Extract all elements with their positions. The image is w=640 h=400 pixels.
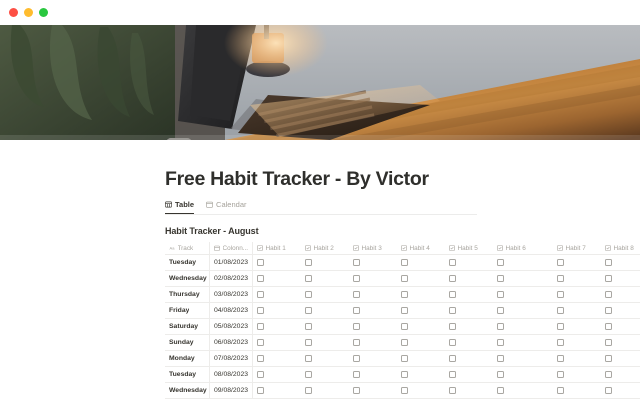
cell-habit-7-checkbox[interactable] [553,287,601,302]
cell-habit-2-checkbox[interactable] [301,383,349,398]
cell-day[interactable]: Friday [165,303,210,318]
cell-habit-5-checkbox[interactable] [445,271,493,286]
checkbox-unchecked-icon[interactable] [305,371,312,378]
checkbox-unchecked-icon[interactable] [401,291,408,298]
day-label: Tuesday [169,371,196,378]
column-header-habit-7[interactable]: Habit 7 [553,242,601,254]
cell-date[interactable]: 09/08/2023 [210,383,253,398]
checkbox-unchecked-icon[interactable] [605,371,612,378]
checkbox-unchecked-icon[interactable] [257,291,264,298]
checkbox-unchecked-icon[interactable] [401,355,408,362]
cell-habit-5-checkbox[interactable] [445,383,493,398]
table-row[interactable]: Tuesday01/08/2023 [165,255,640,271]
checkbox-unchecked-icon[interactable] [257,323,264,330]
database-title: Habit Tracker - August [165,226,640,236]
day-label: Friday [169,307,189,314]
cell-date[interactable]: 03/08/2023 [210,287,253,302]
cell-day[interactable]: Wednesday [165,383,210,398]
cell-day[interactable]: Thursday [165,287,210,302]
column-header-label: Track [178,245,194,252]
checkbox-unchecked-icon[interactable] [497,323,504,330]
checkbox-unchecked-icon[interactable] [401,323,408,330]
checkbox-unchecked-icon[interactable] [605,355,612,362]
column-header-label: Habit 5 [458,245,478,252]
checkbox-unchecked-icon[interactable] [305,355,312,362]
checkbox-unchecked-icon[interactable] [401,339,408,346]
checkbox-icon [305,245,311,251]
date-label: 09/08/2023 [214,387,248,394]
column-header-label: Habit 8 [614,245,634,252]
cell-date[interactable]: 01/08/2023 [210,255,253,270]
checkbox-icon [353,245,359,251]
cell-day[interactable]: Monday [165,351,210,366]
checkbox-unchecked-icon[interactable] [449,291,456,298]
cell-habit-5-checkbox[interactable] [445,351,493,366]
checkbox-unchecked-icon[interactable] [305,291,312,298]
checkbox-unchecked-icon[interactable] [305,275,312,282]
cell-habit-4-checkbox[interactable] [397,351,445,366]
checkbox-unchecked-icon[interactable] [557,275,564,282]
title-aa-icon: Aa [169,245,175,251]
checkbox-icon [257,245,263,251]
cell-habit-3-checkbox[interactable] [349,255,397,270]
table-row[interactable]: Wednesday09/08/2023 [165,383,640,399]
checkbox-unchecked-icon[interactable] [449,355,456,362]
cell-habit-2-checkbox[interactable] [301,255,349,270]
checkbox-unchecked-icon[interactable] [305,307,312,314]
checkbox-unchecked-icon[interactable] [557,387,564,394]
cell-habit-2-checkbox[interactable] [301,319,349,334]
checkbox-unchecked-icon[interactable] [305,323,312,330]
cell-habit-7-checkbox[interactable] [553,367,601,382]
cell-habit-5-checkbox[interactable] [445,287,493,302]
cell-habit-1-checkbox[interactable] [253,255,301,270]
checkbox-unchecked-icon[interactable] [497,355,504,362]
checkbox-unchecked-icon[interactable] [605,323,612,330]
day-label: Monday [169,355,195,362]
cell-habit-3-checkbox[interactable] [349,367,397,382]
cell-habit-1-checkbox[interactable] [253,335,301,350]
cell-habit-1-checkbox[interactable] [253,303,301,318]
cell-habit-3-checkbox[interactable] [349,351,397,366]
column-header-label: Habit 6 [506,245,526,252]
checkbox-unchecked-icon[interactable] [449,371,456,378]
cell-habit-2-checkbox[interactable] [301,271,349,286]
close-button[interactable] [9,8,18,17]
cell-habit-6-checkbox[interactable] [493,367,553,382]
column-header-track[interactable]: AaTrack [165,242,210,254]
checkbox-icon [605,245,611,251]
date-label: 06/08/2023 [214,339,248,346]
checkbox-unchecked-icon[interactable] [353,259,360,266]
zoom-button[interactable] [39,8,48,17]
table-row[interactable]: Saturday05/08/2023 [165,319,640,335]
cell-habit-6-checkbox[interactable] [493,255,553,270]
checkbox-unchecked-icon[interactable] [449,323,456,330]
table-row[interactable]: Thursday03/08/2023 [165,287,640,303]
cell-habit-6-checkbox[interactable] [493,383,553,398]
checkbox-unchecked-icon[interactable] [449,259,456,266]
cell-habit-7-checkbox[interactable] [553,319,601,334]
column-header-habit-6[interactable]: Habit 6 [493,242,553,254]
checkbox-unchecked-icon[interactable] [605,291,612,298]
cell-habit-8-checkbox[interactable] [601,383,640,398]
table-row[interactable]: Sunday06/08/2023 [165,335,640,351]
column-header-habit-3[interactable]: Habit 3 [349,242,397,254]
checkbox-unchecked-icon[interactable] [557,371,564,378]
cell-habit-8-checkbox[interactable] [601,255,640,270]
checkbox-unchecked-icon[interactable] [257,355,264,362]
checkbox-unchecked-icon[interactable] [401,307,408,314]
checkbox-unchecked-icon[interactable] [557,323,564,330]
checkbox-unchecked-icon[interactable] [497,259,504,266]
cell-habit-5-checkbox[interactable] [445,255,493,270]
cell-habit-8-checkbox[interactable] [601,335,640,350]
checkbox-unchecked-icon[interactable] [353,307,360,314]
cell-habit-3-checkbox[interactable] [349,271,397,286]
tab-table[interactable]: Table [165,200,194,214]
checkbox-unchecked-icon[interactable] [353,291,360,298]
checkbox-unchecked-icon[interactable] [497,339,504,346]
checkbox-icon [449,245,455,251]
cell-habit-2-checkbox[interactable] [301,351,349,366]
checkbox-unchecked-icon[interactable] [449,387,456,394]
cell-habit-8-checkbox[interactable] [601,319,640,334]
svg-text:Aa: Aa [170,246,175,251]
column-header-label: Habit 1 [266,245,286,252]
checkbox-unchecked-icon[interactable] [497,307,504,314]
cell-date[interactable]: 06/08/2023 [210,335,253,350]
cell-day[interactable]: Tuesday [165,367,210,382]
page-cover-image[interactable] [0,25,640,140]
table-icon [165,201,172,208]
cell-habit-6-checkbox[interactable] [493,351,553,366]
cell-date[interactable]: 05/08/2023 [210,319,253,334]
cell-habit-5-checkbox[interactable] [445,303,493,318]
cell-habit-7-checkbox[interactable] [553,351,601,366]
cell-habit-6-checkbox[interactable] [493,319,553,334]
cell-habit-5-checkbox[interactable] [445,335,493,350]
cell-habit-6-checkbox[interactable] [493,335,553,350]
cell-habit-1-checkbox[interactable] [253,367,301,382]
cell-habit-4-checkbox[interactable] [397,271,445,286]
cell-habit-8-checkbox[interactable] [601,287,640,302]
table-row[interactable]: Monday07/08/2023 [165,351,640,367]
cell-habit-2-checkbox[interactable] [301,303,349,318]
checkbox-unchecked-icon[interactable] [449,307,456,314]
app-window: Free Habit Tracker - By Victor Table [0,0,640,400]
date-label: 02/08/2023 [214,275,248,282]
checkbox-unchecked-icon[interactable] [305,339,312,346]
cell-day[interactable]: Saturday [165,319,210,334]
date-label: 01/08/2023 [214,259,248,266]
checkbox-unchecked-icon[interactable] [557,307,564,314]
cell-habit-7-checkbox[interactable] [553,383,601,398]
chart-mountain-icon [166,138,192,140]
view-tabs: Table Calendar [165,200,477,215]
cell-habit-1-checkbox[interactable] [253,271,301,286]
table-row[interactable]: Tuesday08/08/2023 [165,367,640,383]
cell-habit-1-checkbox[interactable] [253,319,301,334]
day-label: Wednesday [169,387,207,394]
window-titlebar [0,0,640,25]
checkbox-icon [497,245,503,251]
page-title: Free Habit Tracker - By Victor [165,168,640,190]
column-header-label: Colonn... [223,245,249,252]
cell-date[interactable]: 04/08/2023 [210,303,253,318]
checkbox-unchecked-icon[interactable] [449,275,456,282]
page-content: Free Habit Tracker - By Victor Table [0,168,640,400]
tab-table-label: Table [175,200,194,209]
tab-calendar-label: Calendar [216,200,246,209]
page-icon[interactable] [166,138,192,140]
checkbox-unchecked-icon[interactable] [401,259,408,266]
checkbox-unchecked-icon[interactable] [605,275,612,282]
cell-habit-4-checkbox[interactable] [397,367,445,382]
day-label: Sunday [169,339,194,346]
date-label: 04/08/2023 [214,307,248,314]
cell-habit-3-checkbox[interactable] [349,287,397,302]
column-header-label: Habit 3 [362,245,382,252]
checkbox-unchecked-icon[interactable] [257,371,264,378]
cell-habit-8-checkbox[interactable] [601,271,640,286]
checkbox-unchecked-icon[interactable] [257,307,264,314]
column-header-label: Habit 7 [566,245,586,252]
cell-habit-4-checkbox[interactable] [397,383,445,398]
cell-habit-7-checkbox[interactable] [553,255,601,270]
cell-habit-2-checkbox[interactable] [301,287,349,302]
checkbox-unchecked-icon[interactable] [605,387,612,394]
checkbox-unchecked-icon[interactable] [605,339,612,346]
table-body: Tuesday01/08/2023Wednesday02/08/2023Thur… [165,255,640,399]
date-label: 05/08/2023 [214,323,248,330]
cell-habit-1-checkbox[interactable] [253,287,301,302]
cell-habit-6-checkbox[interactable] [493,271,553,286]
date-label: 03/08/2023 [214,291,248,298]
checkbox-unchecked-icon[interactable] [353,275,360,282]
checkbox-icon [557,245,563,251]
checkbox-unchecked-icon[interactable] [497,291,504,298]
day-label: Wednesday [169,275,207,282]
checkbox-unchecked-icon[interactable] [257,339,264,346]
column-header-colonn[interactable]: Colonn... [210,242,253,254]
checkbox-unchecked-icon[interactable] [497,387,504,394]
calendar-icon [206,201,213,208]
column-header-habit-5[interactable]: Habit 5 [445,242,493,254]
checkbox-unchecked-icon[interactable] [257,259,264,266]
cell-day[interactable]: Tuesday [165,255,210,270]
checkbox-unchecked-icon[interactable] [353,323,360,330]
cell-habit-7-checkbox[interactable] [553,303,601,318]
minimize-button[interactable] [24,8,33,17]
checkbox-unchecked-icon[interactable] [257,387,264,394]
column-header-habit-1[interactable]: Habit 1 [253,242,301,254]
cell-date[interactable]: 08/08/2023 [210,367,253,382]
cover-artwork [0,25,640,140]
cell-habit-3-checkbox[interactable] [349,319,397,334]
checkbox-unchecked-icon[interactable] [449,339,456,346]
cell-habit-1-checkbox[interactable] [253,351,301,366]
cell-habit-1-checkbox[interactable] [253,383,301,398]
checkbox-unchecked-icon[interactable] [353,371,360,378]
table-row[interactable]: Friday04/08/2023 [165,303,640,319]
cell-habit-4-checkbox[interactable] [397,319,445,334]
checkbox-unchecked-icon[interactable] [497,275,504,282]
checkbox-unchecked-icon[interactable] [605,259,612,266]
cell-habit-4-checkbox[interactable] [397,255,445,270]
cell-day[interactable]: Wednesday [165,271,210,286]
checkbox-unchecked-icon[interactable] [353,355,360,362]
date-label: 07/08/2023 [214,355,248,362]
checkbox-unchecked-icon[interactable] [401,275,408,282]
checkbox-unchecked-icon[interactable] [353,339,360,346]
cell-date[interactable]: 02/08/2023 [210,271,253,286]
checkbox-unchecked-icon[interactable] [557,259,564,266]
day-label: Thursday [169,291,200,298]
cell-habit-4-checkbox[interactable] [397,287,445,302]
date-label: 08/08/2023 [214,371,248,378]
checkbox-unchecked-icon[interactable] [305,387,312,394]
cell-habit-7-checkbox[interactable] [553,271,601,286]
tab-calendar[interactable]: Calendar [206,200,246,214]
habit-table: AaTrackColonn...Habit 1Habit 2Habit 3Hab… [165,242,640,400]
column-header-label: Habit 2 [314,245,334,252]
checkbox-unchecked-icon[interactable] [401,387,408,394]
cell-habit-5-checkbox[interactable] [445,367,493,382]
cell-habit-4-checkbox[interactable] [397,303,445,318]
column-header-habit-8[interactable]: Habit 8 [601,242,640,254]
column-header-habit-2[interactable]: Habit 2 [301,242,349,254]
checkbox-unchecked-icon[interactable] [497,371,504,378]
checkbox-unchecked-icon[interactable] [257,275,264,282]
cell-habit-7-checkbox[interactable] [553,335,601,350]
cell-habit-3-checkbox[interactable] [349,383,397,398]
table-header-row: AaTrackColonn...Habit 1Habit 2Habit 3Hab… [165,242,640,255]
cell-habit-6-checkbox[interactable] [493,303,553,318]
checkbox-unchecked-icon[interactable] [605,307,612,314]
day-label: Saturday [169,323,198,330]
checkbox-unchecked-icon[interactable] [401,371,408,378]
date-icon [214,245,220,251]
checkbox-unchecked-icon[interactable] [305,259,312,266]
cell-habit-3-checkbox[interactable] [349,335,397,350]
cell-habit-2-checkbox[interactable] [301,367,349,382]
cell-date[interactable]: 07/08/2023 [210,351,253,366]
cell-habit-8-checkbox[interactable] [601,367,640,382]
checkbox-unchecked-icon[interactable] [353,387,360,394]
cell-habit-4-checkbox[interactable] [397,335,445,350]
cell-day[interactable]: Sunday [165,335,210,350]
cell-habit-2-checkbox[interactable] [301,335,349,350]
checkbox-icon [401,245,407,251]
checkbox-unchecked-icon[interactable] [557,355,564,362]
cell-habit-8-checkbox[interactable] [601,351,640,366]
cell-habit-5-checkbox[interactable] [445,319,493,334]
day-label: Tuesday [169,259,196,266]
table-row[interactable]: Wednesday02/08/2023 [165,271,640,287]
cell-habit-8-checkbox[interactable] [601,303,640,318]
traffic-lights [9,8,48,17]
cell-habit-6-checkbox[interactable] [493,287,553,302]
checkbox-unchecked-icon[interactable] [557,291,564,298]
column-header-label: Habit 4 [410,245,430,252]
cell-habit-3-checkbox[interactable] [349,303,397,318]
column-header-habit-4[interactable]: Habit 4 [397,242,445,254]
checkbox-unchecked-icon[interactable] [557,339,564,346]
